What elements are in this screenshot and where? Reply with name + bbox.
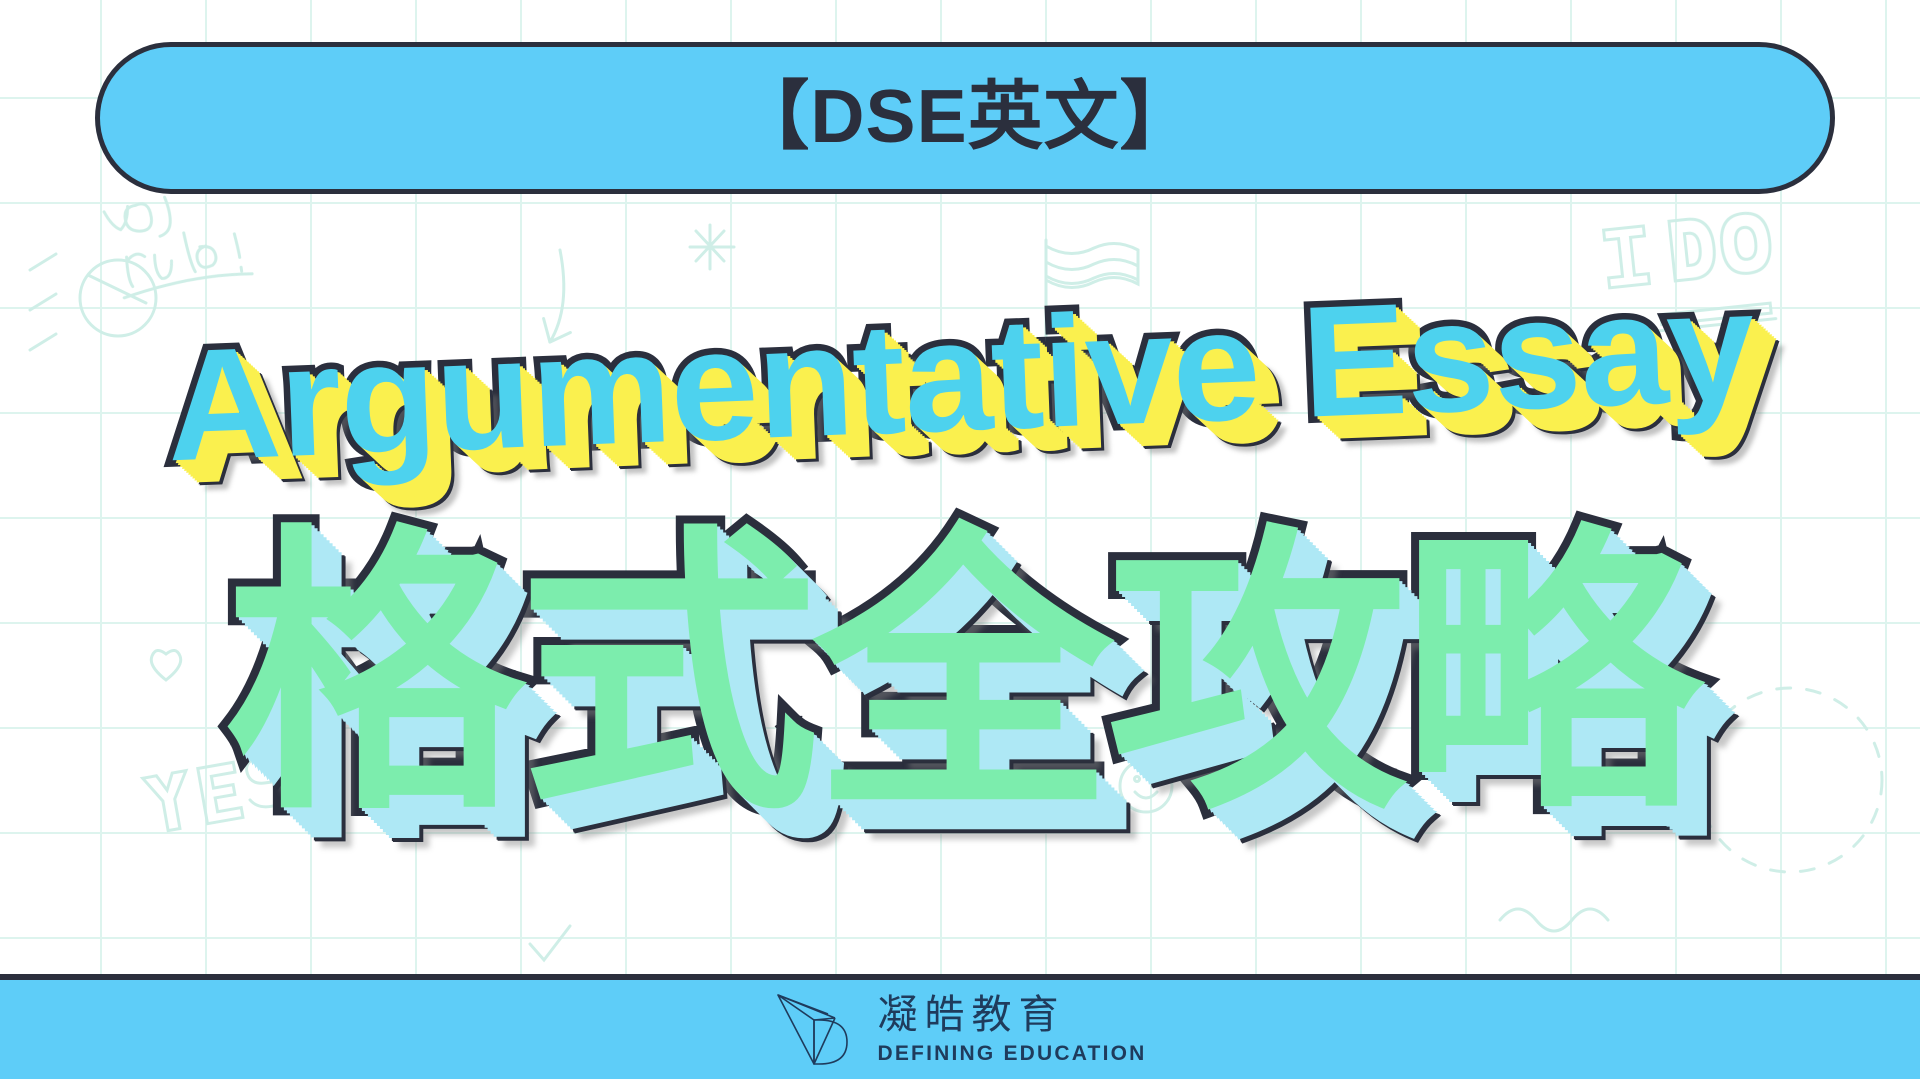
top-banner-label: 【DSE英文】	[734, 79, 1195, 154]
doodle-sparkle	[690, 225, 734, 269]
headline-chinese-text: 格式全攻略	[225, 525, 1695, 825]
doodle-squiggle	[1500, 909, 1608, 931]
footer-brand-text: 凝皓教育 DEFINING EDUCATION	[877, 995, 1146, 1064]
footer-bar: 凝皓教育 DEFINING EDUCATION	[0, 974, 1920, 1079]
doodle-you-rule	[103, 187, 253, 299]
d-prism-logo-icon	[773, 990, 859, 1070]
top-banner-pill: 【DSE英文】	[95, 42, 1835, 194]
footer-brand-chinese: 凝皓教育	[877, 995, 1065, 1035]
footer-brand-english: DEFINING EDUCATION	[877, 1043, 1146, 1064]
doodle-check	[530, 926, 570, 960]
headline-english-text: Argumentative Essay	[164, 266, 1757, 485]
headline-chinese-container: 格式全攻略	[0, 490, 1920, 860]
